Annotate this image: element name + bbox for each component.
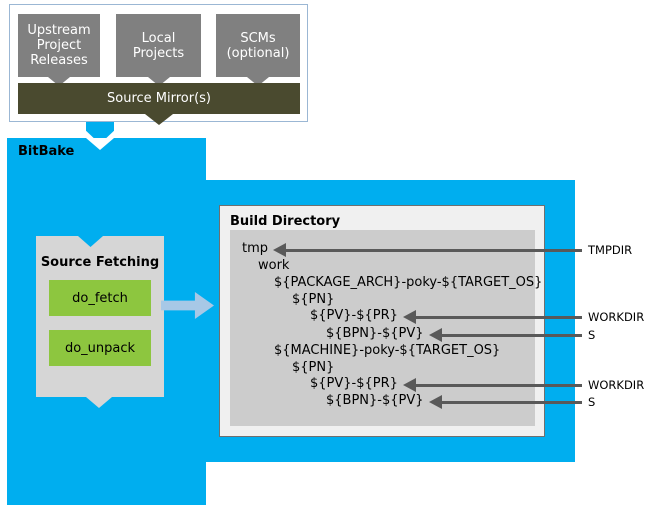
source-box-label: SCMs(optional) bbox=[227, 31, 290, 61]
pointer-line bbox=[441, 401, 582, 404]
pointer-label: S bbox=[588, 395, 595, 409]
pointer-label: S bbox=[588, 328, 595, 342]
task-label: do_unpack bbox=[65, 341, 135, 356]
tree-line: ${BPN}-${PV} bbox=[326, 393, 424, 408]
tree-line: ${PN} bbox=[292, 292, 334, 307]
tree-line: ${MACHINE}-poky-${TARGET_OS} bbox=[274, 343, 500, 358]
pointer-arrowhead-icon bbox=[403, 310, 416, 324]
task-do-unpack[interactable]: do_unpack bbox=[49, 330, 151, 366]
task-label: do_fetch bbox=[72, 291, 128, 306]
source-box-scms-optional: SCMs(optional) bbox=[216, 14, 300, 77]
source-fetching-title: Source Fetching bbox=[36, 255, 164, 270]
pointer-line bbox=[285, 249, 582, 252]
pointer-arrowhead-icon bbox=[429, 395, 442, 409]
tree-line: ${PACKAGE_ARCH}-poky-${TARGET_OS} bbox=[274, 275, 542, 290]
source-box-label: UpstreamProjectReleases bbox=[27, 23, 90, 68]
pointer-line bbox=[415, 316, 582, 319]
diagram-canvas: UpstreamProjectReleases LocalProjects SC… bbox=[0, 0, 669, 519]
source-mirrors-bar: Source Mirror(s) bbox=[18, 83, 300, 114]
tree-line: ${PV}-${PR} bbox=[310, 308, 398, 323]
pointer-line bbox=[441, 334, 582, 337]
tree-line: ${PN} bbox=[292, 360, 334, 375]
pointer-label: WORKDIR bbox=[588, 378, 644, 392]
pointer-arrowhead-icon bbox=[429, 328, 442, 342]
pointer-line bbox=[415, 384, 582, 387]
source-inputs-panel: UpstreamProjectReleases LocalProjects SC… bbox=[9, 4, 308, 122]
pointer-label: WORKDIR bbox=[588, 310, 644, 324]
tree-line: ${PV}-${PR} bbox=[310, 376, 398, 391]
pointer-arrowhead-icon bbox=[273, 243, 286, 257]
source-fetching-box: Source Fetching do_fetch do_unpack bbox=[36, 236, 164, 397]
tree-line: tmp bbox=[242, 241, 268, 256]
pointer-arrowhead-icon bbox=[403, 378, 416, 392]
source-mirrors-label: Source Mirror(s) bbox=[107, 91, 211, 106]
source-box-label: LocalProjects bbox=[133, 31, 184, 61]
build-directory-tree: tmpwork${PACKAGE_ARCH}-poky-${TARGET_OS}… bbox=[230, 230, 535, 426]
source-box-local-projects: LocalProjects bbox=[116, 14, 201, 77]
task-do-fetch[interactable]: do_fetch bbox=[49, 280, 151, 316]
pointer-label: TMPDIR bbox=[588, 243, 632, 257]
tree-line: work bbox=[258, 258, 289, 273]
source-box-upstream-project-releases: UpstreamProjectReleases bbox=[18, 14, 100, 77]
bitbake-label: BitBake bbox=[18, 144, 74, 159]
build-directory-title: Build Directory bbox=[230, 214, 340, 229]
down-tab-icon bbox=[145, 114, 173, 125]
tree-line: ${BPN}-${PV} bbox=[326, 326, 424, 341]
